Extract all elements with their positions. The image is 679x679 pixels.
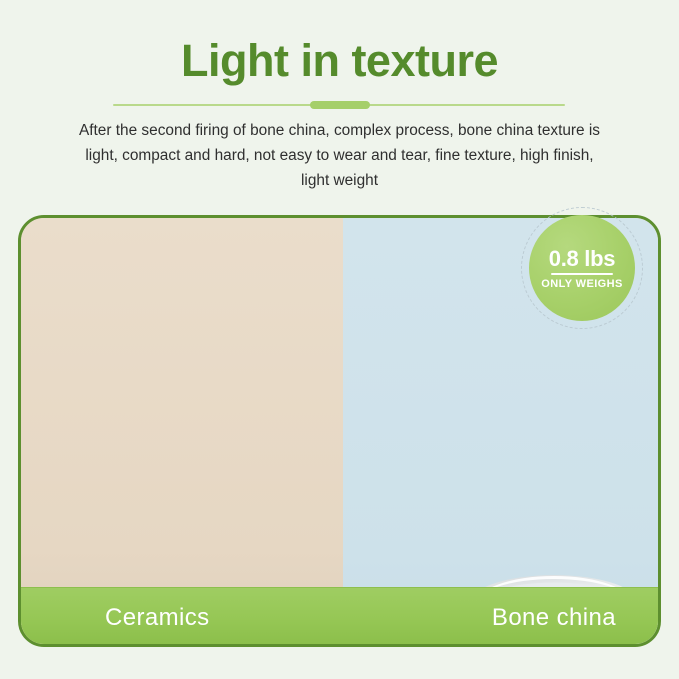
label-ceramics: Ceramics: [105, 604, 210, 632]
badge-underline: [551, 273, 613, 275]
header-section: Light in texture After the second firing…: [0, 0, 679, 200]
title-divider: [113, 101, 565, 109]
badge-weight-value: 0.8 lbs: [529, 246, 635, 272]
floor-bar: Ceramics Bone china: [21, 587, 661, 644]
label-bone-china: Bone china: [492, 604, 616, 632]
weight-badge: 0.8 lbs ONLY WEIGHS: [529, 215, 635, 321]
divider-accent: [310, 101, 370, 109]
panel-background-left: [21, 218, 343, 644]
badge-caption: ONLY WEIGHS: [529, 278, 635, 290]
page-title: Light in texture: [0, 36, 679, 86]
subtitle-text: After the second firing of bone china, c…: [78, 118, 601, 193]
